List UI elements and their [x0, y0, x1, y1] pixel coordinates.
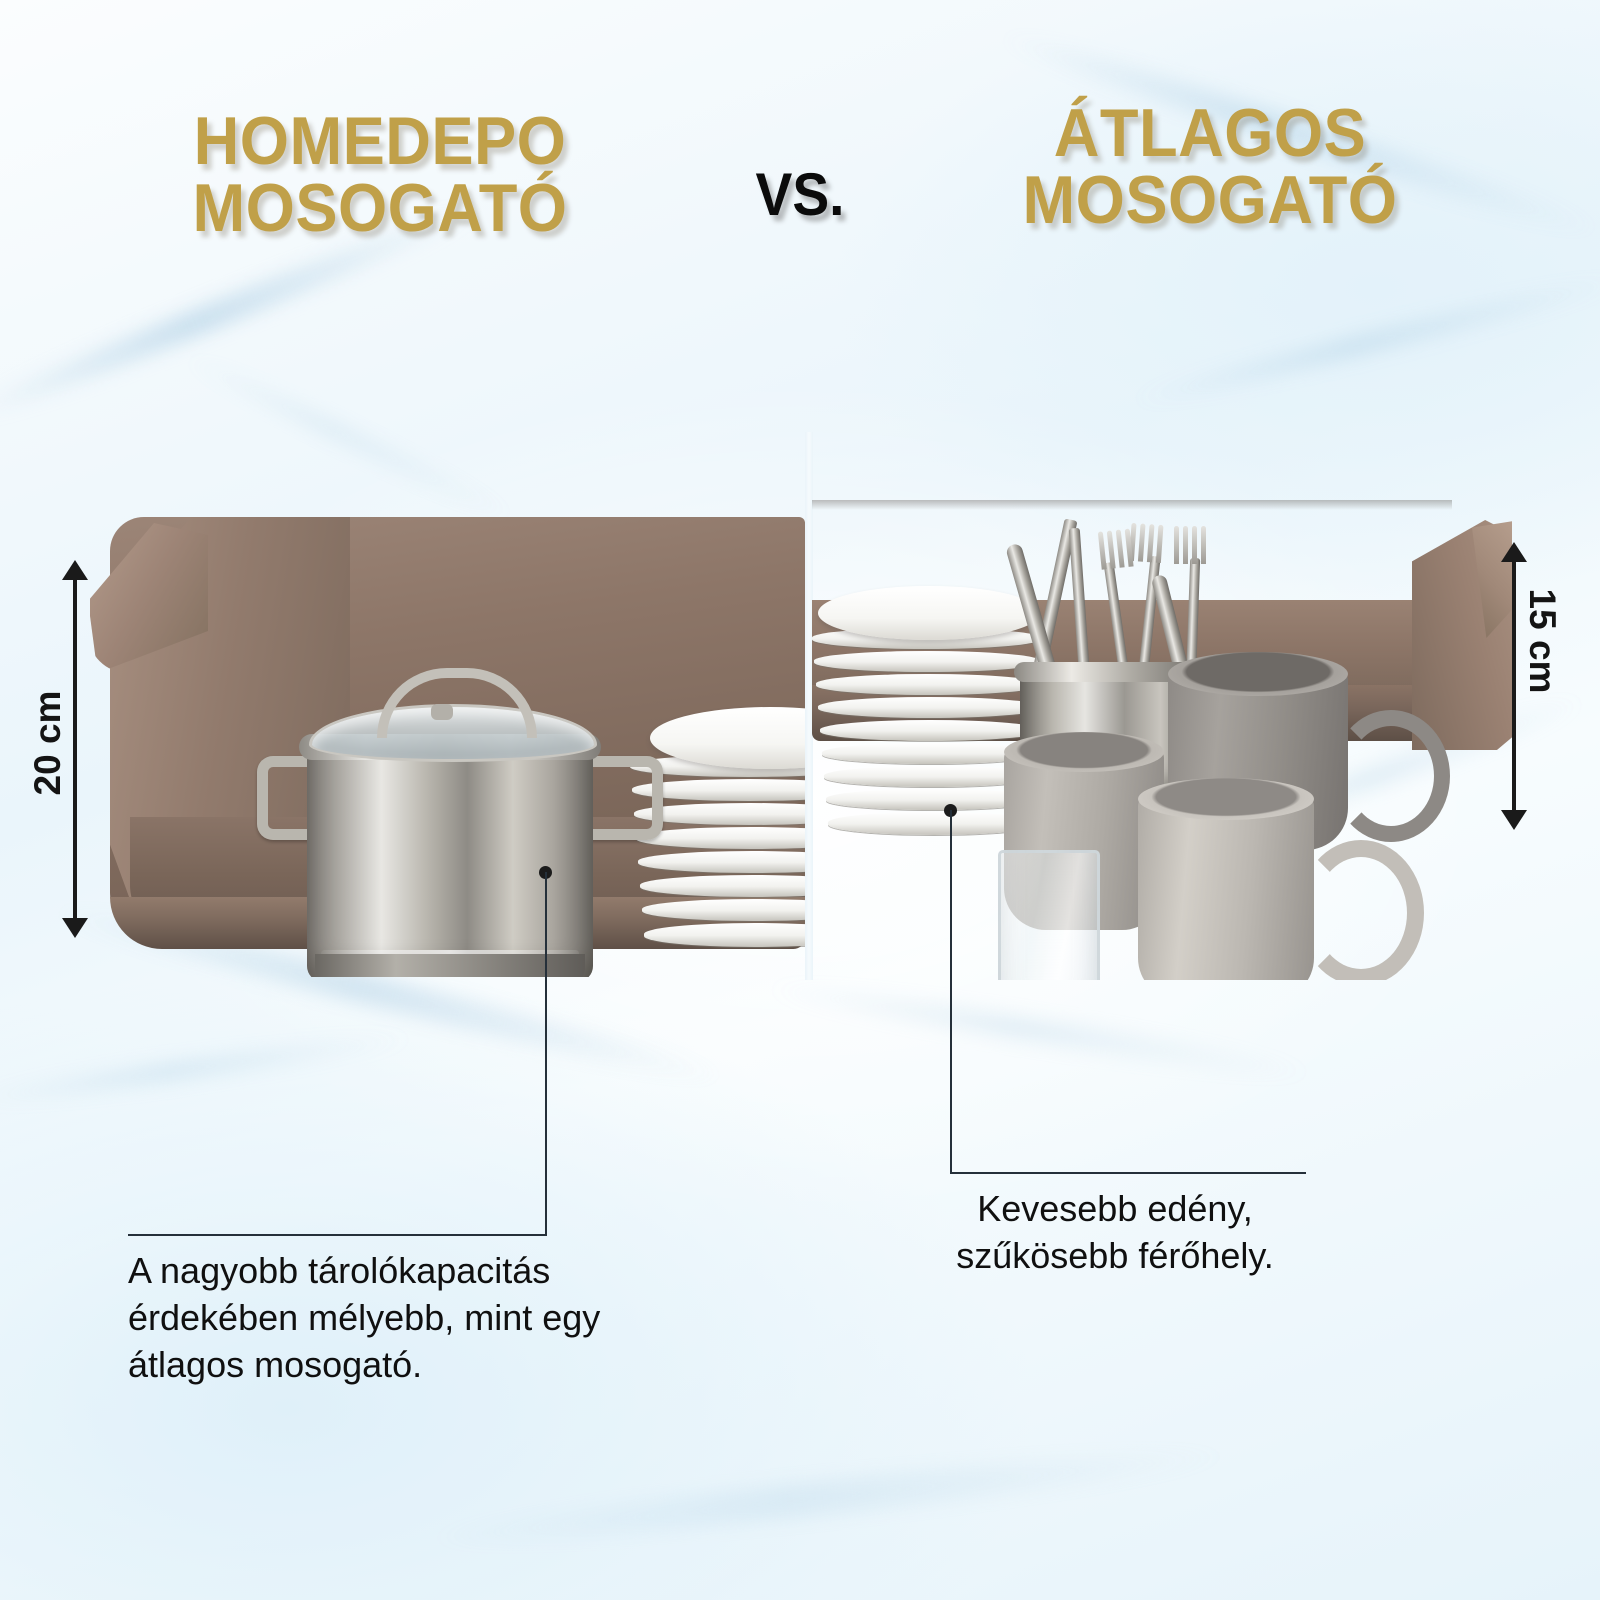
- lid-handle-center: [431, 704, 453, 720]
- sink-basin-shallow: [812, 500, 1512, 920]
- fork-tines: [1174, 526, 1208, 570]
- vs-label: VS.: [699, 160, 901, 229]
- arrow-head-down-icon: [1501, 810, 1527, 830]
- mug-rim: [1168, 652, 1348, 696]
- top-plate: [818, 586, 1040, 640]
- dimension-shaft: [1512, 557, 1516, 812]
- caption-left: A nagyobb tárolókapacitás érdekében mély…: [128, 1248, 668, 1388]
- mug-rim: [1138, 778, 1314, 820]
- comparison-infographic: HOMEDEPOMOSOGATÓ VS. ÁTLAGOSMOSOGATÓ: [0, 0, 1600, 1600]
- dimension-label-right: 15 cm: [1521, 571, 1563, 711]
- dimension-label-left: 20 cm: [27, 673, 69, 813]
- leader-line-vertical: [545, 872, 547, 1235]
- drinking-glass: [998, 850, 1100, 980]
- mug-handle: [1332, 710, 1450, 842]
- average-sink-photo: [812, 380, 1512, 980]
- mug-handle: [1298, 840, 1424, 980]
- headline-left: HOMEDEPOMOSOGATÓ: [92, 108, 669, 243]
- fork-tines: [1098, 528, 1136, 575]
- sink-floor-shadow: [812, 500, 1452, 510]
- arrow-head-down-icon: [62, 918, 88, 938]
- mug-grey-front: [1138, 796, 1314, 980]
- leader-line-vertical: [950, 810, 952, 1173]
- pot-body: [307, 744, 593, 977]
- leader-line-horizontal: [950, 1172, 1306, 1174]
- mug-rim: [1004, 732, 1164, 772]
- stainless-stockpot: [285, 682, 615, 977]
- homedepo-sink-photo: [90, 432, 805, 977]
- headline-right: ÁTLAGOSMOSOGATÓ: [922, 100, 1499, 235]
- sink-basin-deep: [90, 517, 805, 977]
- dimension-shaft: [73, 575, 77, 920]
- caption-right: Kevesebb edény, szűkösebb férőhely.: [905, 1186, 1325, 1280]
- leader-line-horizontal: [128, 1234, 547, 1236]
